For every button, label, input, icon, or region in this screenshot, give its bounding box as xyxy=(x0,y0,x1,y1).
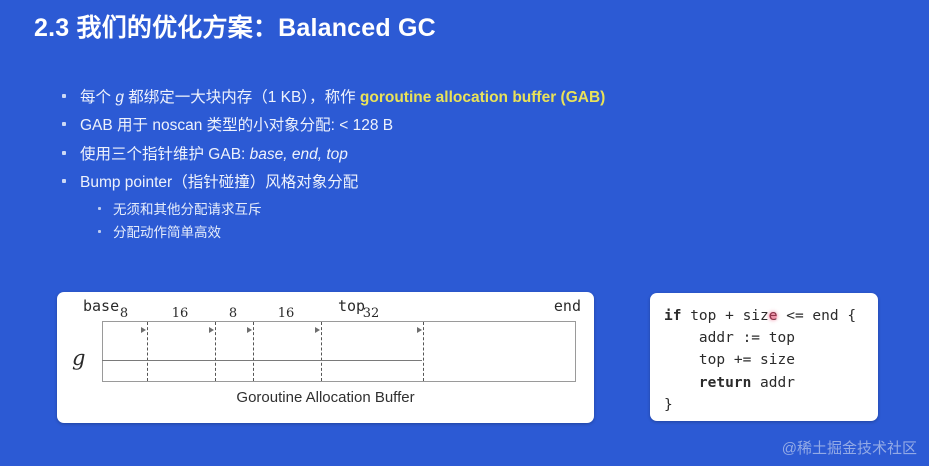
bump-pointer-arrow-line xyxy=(102,360,422,361)
gab-diagram: base top end g Goroutine Allocation Buff… xyxy=(57,292,594,423)
bullet-item: Bump pointer（指针碰撞）风格对象分配 xyxy=(62,173,852,192)
bullet-list: 每个 g 都绑定一大块内存（1 KB），称作 goroutine allocat… xyxy=(62,88,852,249)
bullet-text: 使用三个指针维护 GAB: base, end, top xyxy=(80,145,348,164)
slide-canvas: 2.3 我们的优化方案：Balanced GC 每个 g 都绑定一大块内存（1 … xyxy=(0,0,929,466)
code-text: addr := top xyxy=(664,330,795,346)
text-run: GAB 用于 noscan 类型的小对象分配: < 128 B xyxy=(80,117,393,134)
bullet-dot-icon xyxy=(62,94,66,98)
code-keyword: if xyxy=(664,308,681,324)
cell-divider xyxy=(215,322,216,381)
arrow-head-icon xyxy=(141,327,146,333)
arrow-head-icon xyxy=(247,327,252,333)
diagram-caption: Goroutine Allocation Buffer xyxy=(57,389,594,406)
bullet-item: 无须和其他分配请求互斥 xyxy=(98,202,852,219)
text-run: g xyxy=(115,89,124,106)
arrow-head-icon xyxy=(417,327,422,333)
cell-divider xyxy=(321,322,322,381)
cell-size-label: 8 xyxy=(229,306,237,321)
text-run: 无须和其他分配请求互斥 xyxy=(113,202,262,217)
arrow-head-icon xyxy=(315,327,320,333)
cell-size-label: 16 xyxy=(172,306,189,321)
bullet-dot-icon xyxy=(62,179,66,183)
page-title: 2.3 我们的优化方案：Balanced GC xyxy=(34,8,436,44)
bullet-dot-icon xyxy=(98,207,101,210)
code-text: top += size xyxy=(664,352,795,368)
bullet-dot-icon xyxy=(62,122,66,126)
bullet-item: 使用三个指针维护 GAB: base, end, top xyxy=(62,145,852,164)
cell-size-label: 16 xyxy=(278,306,295,321)
gab-diagram-panel: base top end g Goroutine Allocation Buff… xyxy=(57,292,594,423)
mouse-cursor-icon xyxy=(769,312,777,320)
bullet-item: 每个 g 都绑定一大块内存（1 KB），称作 goroutine allocat… xyxy=(62,88,852,107)
text-run: 每个 xyxy=(80,89,115,106)
code-panel: if top + size <= end { addr := top top +… xyxy=(650,293,878,421)
cell-size-label: 8 xyxy=(120,306,128,321)
bullet-item: 分配动作简单高效 xyxy=(98,225,852,242)
text-run: 都绑定一大块内存（1 KB），称作 xyxy=(124,89,360,106)
gab-buffer-box xyxy=(102,321,576,382)
text-run: 分配动作简单高效 xyxy=(113,225,221,240)
code-text xyxy=(664,375,699,391)
watermark: @稀土掘金技术社区 xyxy=(782,437,917,458)
bullet-text: GAB 用于 noscan 类型的小对象分配: < 128 B xyxy=(80,116,393,135)
text-run: base, end, top xyxy=(250,146,348,163)
bump-pointer-code: if top + size <= end { addr := top top +… xyxy=(664,305,856,416)
cell-size-label: 32 xyxy=(363,306,380,321)
pointer-label-end: end xyxy=(554,297,581,315)
cell-divider xyxy=(147,322,148,381)
pointer-label-base: base xyxy=(83,297,119,315)
bullet-text: Bump pointer（指针碰撞）风格对象分配 xyxy=(80,173,358,192)
text-run: 使用三个指针维护 GAB: xyxy=(80,146,250,163)
cell-divider xyxy=(423,322,424,381)
bullet-text: 无须和其他分配请求互斥 xyxy=(113,202,262,219)
bullet-item: GAB 用于 noscan 类型的小对象分配: < 128 B xyxy=(62,116,852,135)
bullet-dot-icon xyxy=(98,230,101,233)
bullet-text: 每个 g 都绑定一大块内存（1 KB），称作 goroutine allocat… xyxy=(80,88,605,107)
text-run: Bump pointer（指针碰撞）风格对象分配 xyxy=(80,174,358,191)
code-text: } xyxy=(664,397,673,413)
goroutine-label: g xyxy=(72,346,85,370)
code-text: addr xyxy=(751,375,795,391)
code-keyword: return xyxy=(699,375,751,391)
arrow-head-icon xyxy=(209,327,214,333)
pointer-label-top: top xyxy=(338,297,365,315)
bullet-dot-icon xyxy=(62,151,66,155)
highlighted-term: goroutine allocation buffer (GAB) xyxy=(360,89,605,106)
cell-divider xyxy=(253,322,254,381)
bullet-text: 分配动作简单高效 xyxy=(113,225,221,242)
